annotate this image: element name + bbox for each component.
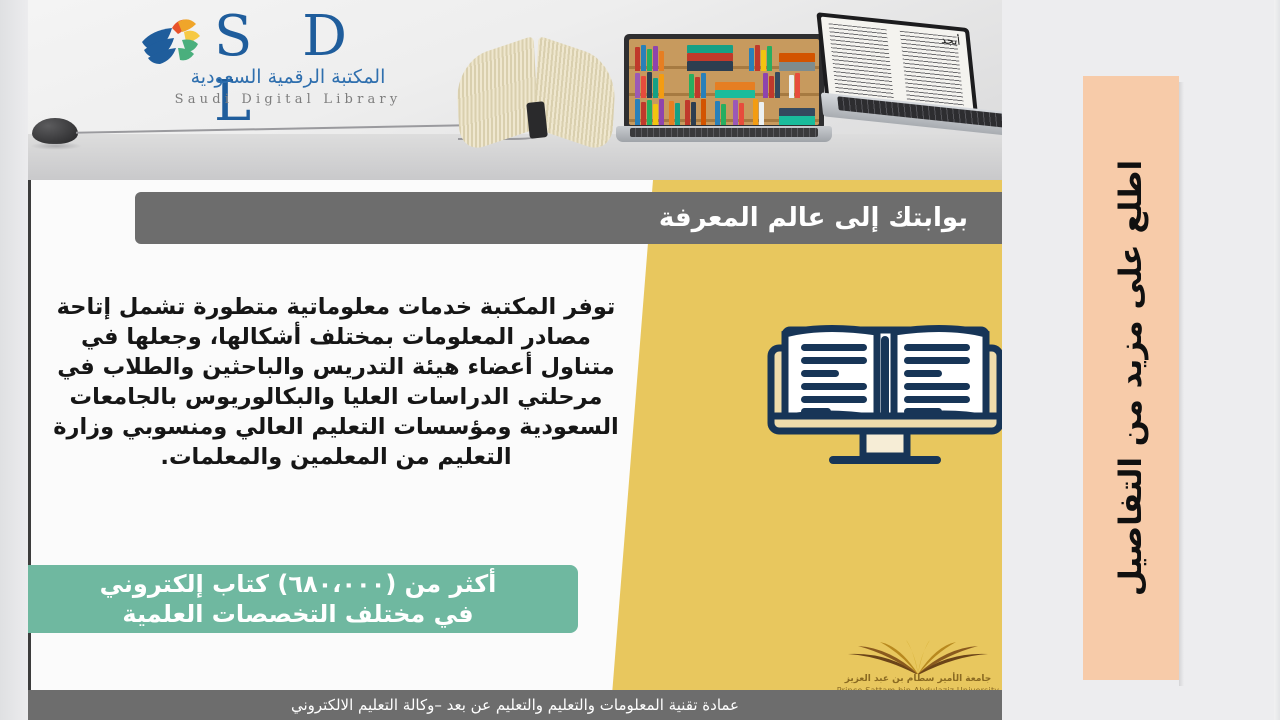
side-panel[interactable]: اطلع على مزيد من التفاصيل (1083, 76, 1179, 680)
workspace-right-edge (1274, 0, 1280, 720)
side-panel-text: اطلع على مزيد من التفاصيل (1113, 160, 1149, 596)
bookshelf-screen (629, 39, 819, 125)
slide-footer: عمادة تقنية المعلومات والتعليم والتعليم … (28, 690, 1002, 720)
book-page-left (456, 36, 539, 155)
body-paragraph: توفر المكتبة خدمات معلوماتية متطورة تشمل… (46, 292, 626, 472)
open-paper-book (458, 38, 618, 142)
banner-title: بوابتك إلى عالم المعرفة (659, 203, 968, 233)
side-panel-shadow (1179, 82, 1184, 686)
workspace-left-edge (0, 0, 28, 720)
hero-image: أبجد S D L (28, 0, 1002, 180)
sdl-arabic-name: المكتبة الرقمية السعودية (138, 66, 438, 88)
laptop-book-page: أبجد (818, 7, 1002, 153)
presentation-workspace: أبجد S D L (0, 0, 1280, 720)
open-book-logo-mark (818, 640, 1002, 676)
sdl-logo: S D L المكتبة الرقمية السعودية Saudi Dig… (138, 8, 438, 108)
sdl-english-name: Saudi Digital Library (138, 92, 438, 107)
highlight-callout: أكثر من (٦٨٠،٠٠٠) كتاب إلكتروني في مختلف… (28, 565, 578, 633)
book-spine (526, 101, 548, 139)
footer-text: عمادة تقنية المعلومات والتعليم والتعليم … (291, 696, 739, 714)
highlight-line-2: في مختلف التخصصات العلمية (122, 599, 473, 629)
university-name-arabic: جامعة الأمير سطام بن عبد العزيز (818, 674, 1002, 684)
laptop-lid (624, 34, 824, 130)
mouse-shadow (30, 142, 82, 150)
highlight-line-1: أكثر من (٦٨٠،٠٠٠) كتاب إلكتروني (100, 569, 497, 599)
computer-mouse-icon (32, 118, 78, 144)
section-banner: بوابتك إلى عالم المعرفة (135, 192, 1002, 244)
laptop-bookshelf (616, 34, 832, 146)
slide-canvas[interactable]: أبجد S D L (28, 0, 1002, 720)
open-book-on-monitor-icon (763, 318, 1002, 493)
sdl-logo-mark (138, 12, 204, 74)
laptop-keyboard (630, 128, 818, 137)
book-page-heading: أبجد (940, 33, 961, 48)
